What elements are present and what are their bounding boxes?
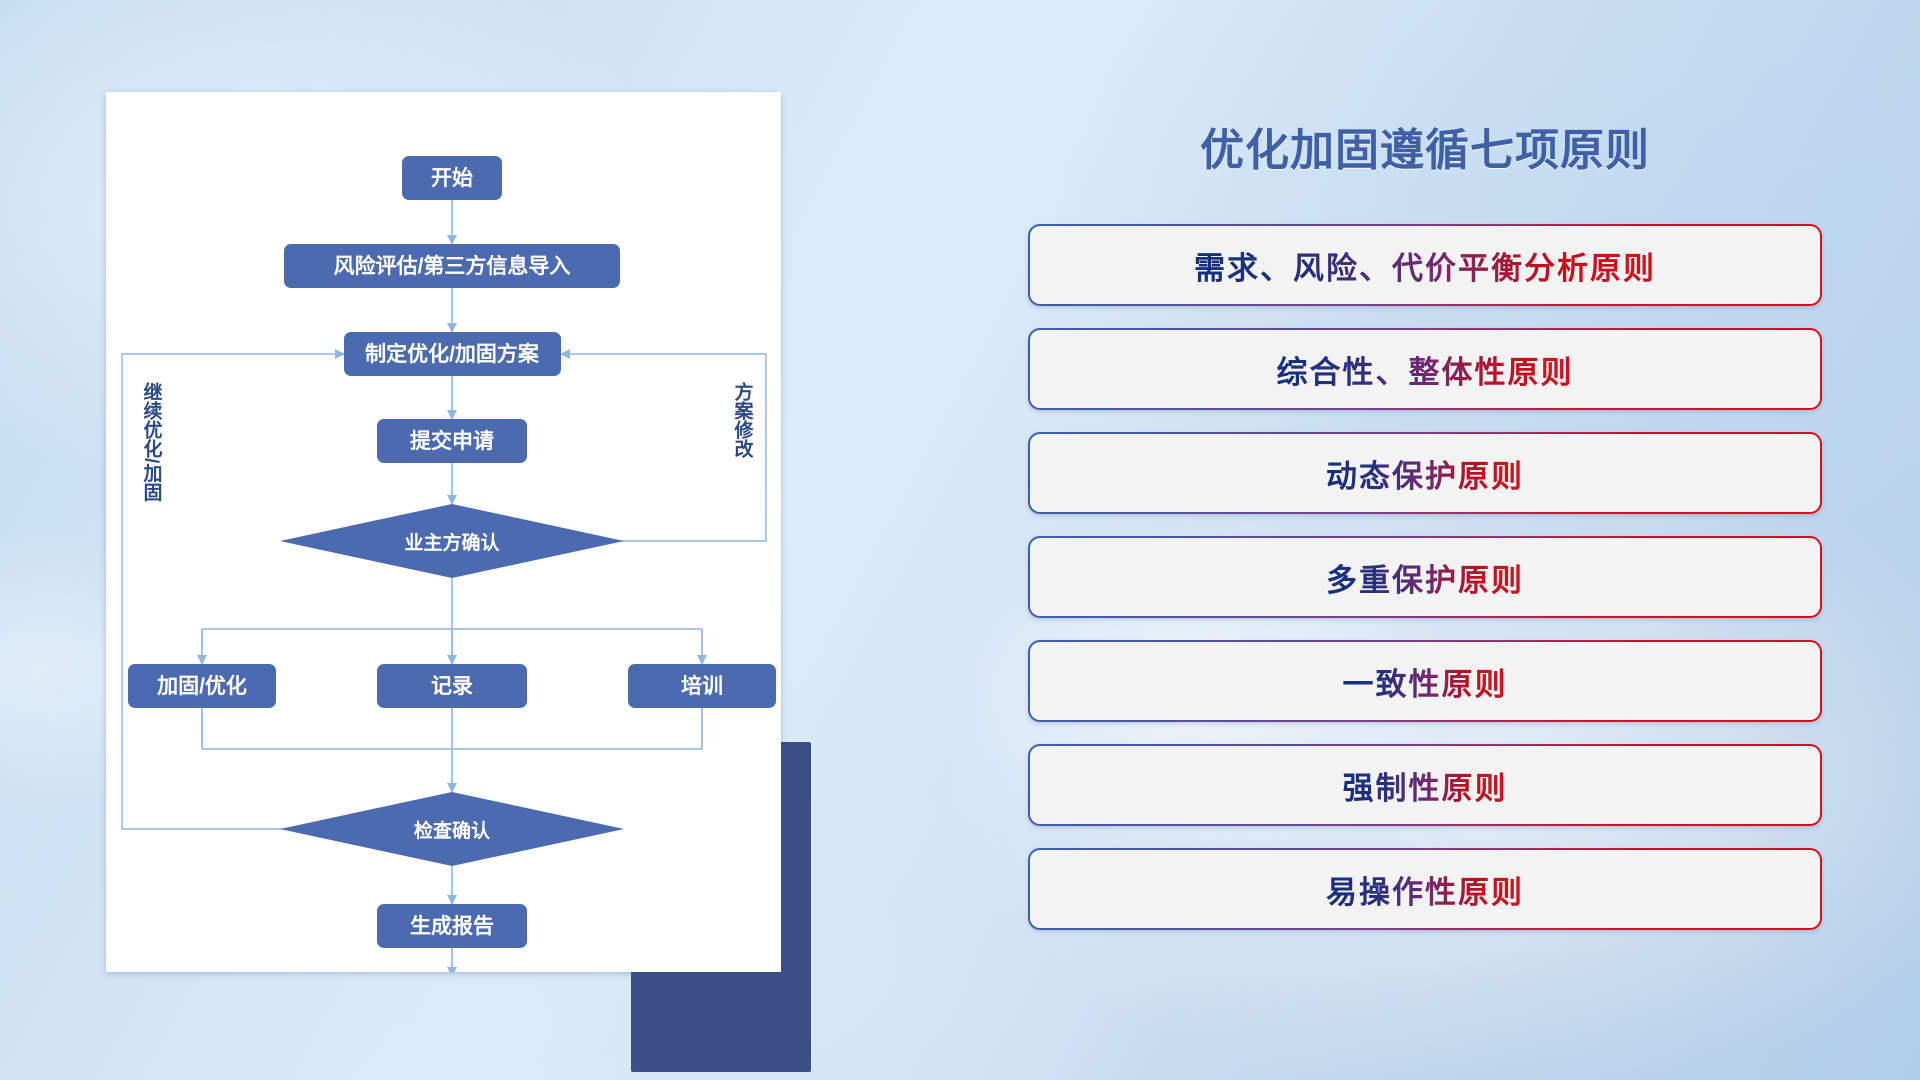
principle-card[interactable]: 动态保护原则 [1028,432,1822,514]
flow-node-reinforce-label: 加固/优化 [156,674,247,698]
flow-node-report-label: 生成报告 [410,914,494,938]
flow-edge-label-right-loop: 方案修改 [732,381,755,459]
flow-node-owner-confirm[interactable]: 业主方确认 [280,504,624,578]
flow-node-report[interactable]: 生成报告 [377,904,527,948]
flow-node-submit[interactable]: 提交申请 [377,419,527,463]
principle-card-label: 多重保护原则 [1326,555,1524,600]
principles-panel: 优化加固遵循七项原则 需求、风险、代价平衡分析原则 综合性、整体性原则 动态保护… [1010,96,1840,996]
flow-node-plan[interactable]: 制定优化/加固方案 [344,332,561,376]
principle-card-inner: 一致性原则 [1030,642,1820,720]
flow-edge-label-left-loop: 继续优化/加固 [141,381,164,502]
flowchart-diagram: 开始 风险评估/第三方信息导入 制定优化/加固方案 提交申请 业主方确认 加固/… [106,92,781,972]
flow-node-risk-assessment[interactable]: 风险评估/第三方信息导入 [284,244,620,288]
flow-node-risk-assessment-label: 风险评估/第三方信息导入 [334,254,571,278]
principle-card[interactable]: 多重保护原则 [1028,536,1822,618]
flow-node-plan-label: 制定优化/加固方案 [365,342,540,366]
principle-card[interactable]: 一致性原则 [1028,640,1822,722]
principle-card-label: 易操作性原则 [1326,867,1524,912]
principle-card-label: 综合性、整体性原则 [1277,347,1574,392]
principle-card-inner: 易操作性原则 [1030,850,1820,928]
principle-card[interactable]: 易操作性原则 [1028,848,1822,930]
flow-node-start[interactable]: 开始 [402,156,502,200]
flow-node-reinforce[interactable]: 加固/优化 [128,664,276,708]
principle-card-inner: 综合性、整体性原则 [1030,330,1820,408]
flow-node-check-confirm[interactable]: 检查确认 [280,792,624,866]
flow-node-training-label: 培训 [681,674,723,698]
principle-card[interactable]: 需求、风险、代价平衡分析原则 [1028,224,1822,306]
principle-card-label: 需求、风险、代价平衡分析原则 [1194,243,1656,288]
flow-node-check-confirm-label: 检查确认 [414,819,490,842]
page-title: 优化加固遵循七项原则 [1010,114,1840,178]
principle-card-label: 一致性原则 [1343,659,1508,704]
principle-card-label: 动态保护原则 [1326,451,1524,496]
principle-card-inner: 多重保护原则 [1030,538,1820,616]
flow-node-record[interactable]: 记录 [377,664,527,708]
flow-node-start-label: 开始 [431,166,473,190]
flow-node-record-label: 记录 [431,675,473,698]
principle-card-inner: 动态保护原则 [1030,434,1820,512]
flowchart-panel: 开始 风险评估/第三方信息导入 制定优化/加固方案 提交申请 业主方确认 加固/… [106,92,781,972]
flow-node-submit-label: 提交申请 [410,429,494,453]
flow-node-owner-confirm-label: 业主方确认 [404,531,499,554]
principle-card[interactable]: 强制性原则 [1028,744,1822,826]
flow-node-training[interactable]: 培训 [628,664,776,708]
principle-card-inner: 强制性原则 [1030,746,1820,824]
principle-card[interactable]: 综合性、整体性原则 [1028,328,1822,410]
principle-card-inner: 需求、风险、代价平衡分析原则 [1030,226,1820,304]
principle-card-label: 强制性原则 [1343,763,1508,808]
